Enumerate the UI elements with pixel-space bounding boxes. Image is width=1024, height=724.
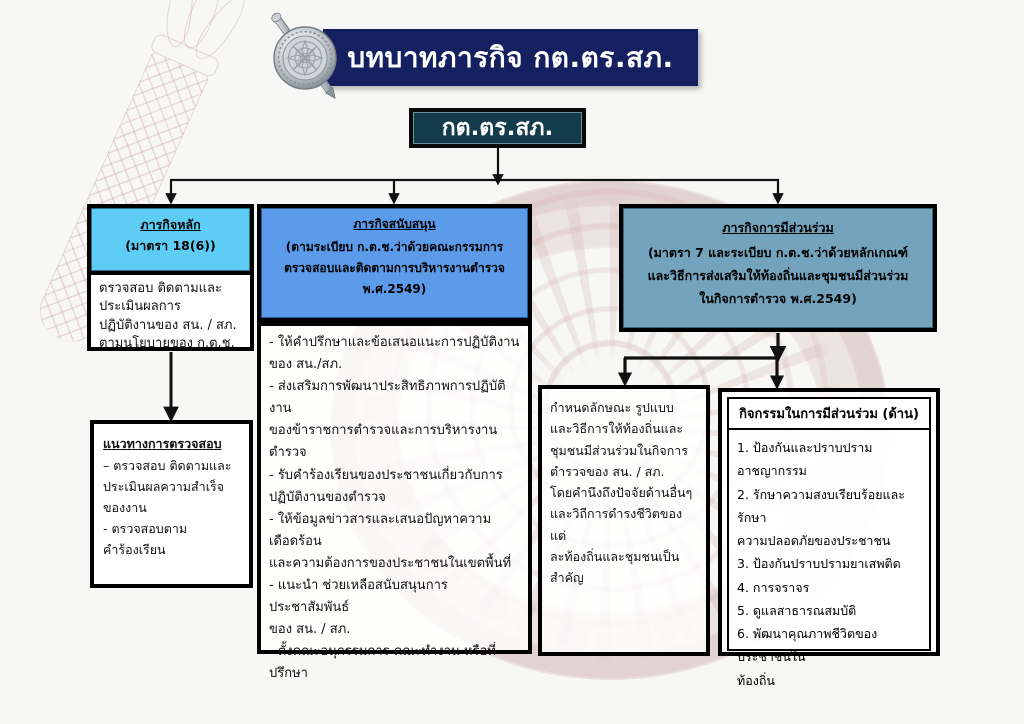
text-line: พ.ศ.2549) — [268, 279, 521, 300]
text-line: สำคัญ — [550, 567, 698, 588]
text-line: (มาตรา 7 และระเบียบ ก.ต.ช.ว่าด้วยหลักเกณ… — [630, 241, 926, 264]
root-node[interactable]: กต.ตร.สภ. — [409, 108, 586, 148]
text-line: ของงาน — [103, 497, 240, 518]
branch-support-header-text: ภารกิจสนับสนุน (ตามระเบียบ ก.ต.ช.ว่าด้วย… — [261, 208, 528, 306]
text-line: 4. การจราจร — [737, 576, 921, 599]
text-line: (ตามระเบียบ ก.ต.ช.ว่าด้วยคณะกรรมการ — [268, 237, 521, 258]
text-line: กำหนดลักษณะ รูปแบบ — [550, 397, 698, 418]
text-line: ปฏิบัติงานของ สน. / สภ. — [99, 317, 242, 335]
text-line: และวิธีการส่งเสริมให้ท้องถิ่นและชุมชนมีส… — [630, 264, 926, 287]
text-line: ของ สน. / สภ. — [269, 619, 520, 641]
text-line: ของข้าราชการตำรวจและการบริหารงานตำรวจ — [269, 420, 520, 464]
activity-list: 1. ป้องกันและปราบปรามอาชญากรรม2. รักษาคว… — [727, 430, 931, 651]
text-line: และวิถีการดำรงชีวิตของแต่ — [550, 503, 698, 546]
text-line: - ส่งเสริมการพัฒนาประสิทธิภาพการปฏิบัติง… — [269, 376, 520, 420]
text-line: 3. ป้องกันปราบปรามยาเสพติด — [737, 552, 921, 575]
text-line: ตรวจสอบ ติดตามและ — [99, 280, 242, 298]
page-title: บทบาทภารกิจ กต.ตร.สภ. — [347, 36, 673, 80]
text-line: 6. พัฒนาคุณภาพชีวิตของประชาชนใน — [737, 622, 921, 669]
text-line: – ตรวจสอบ ติดตามและ — [103, 455, 240, 476]
branch-participate-subtitle: (มาตรา 7 และระเบียบ ก.ต.ช.ว่าด้วยหลักเกณ… — [630, 241, 926, 310]
text-line: ในกิจการตำรวจ พ.ศ.2549) — [630, 287, 926, 310]
text-line: - ตั้งคณะอนุกรรมการ คณะทำงาน หรือที่ปรึก… — [269, 641, 520, 685]
text-line: ละท้องถิ่นและชุมชนเป็น — [550, 546, 698, 567]
guideline-lines: – ตรวจสอบ ติดตามและประเมินผลความสำเร็จขอ… — [103, 455, 240, 560]
text-line: ประเมินผลความสำเร็จ — [103, 476, 240, 497]
text-line: - ให้คำปรึกษาและข้อเสนอแนะการปฏิบัติงาน — [269, 332, 520, 354]
diagram-canvas: บทบาทภารกิจ กต.ตร.สภ. — [0, 0, 1024, 724]
branch-participate-header[interactable]: ภารกิจการมีส่วนร่วม (มาตรา 7 และระเบียบ … — [619, 204, 937, 332]
guideline-box: แนวทางการตรวจสอบ – ตรวจสอบ ติดตามและประเ… — [90, 420, 253, 588]
branch-main-subtitle: (มาตรา 18(6)) — [99, 236, 242, 255]
text-line: และความต้องการของประชาชนในเขตพื้นที่ — [269, 553, 520, 575]
text-line: - ให้ข้อมูลข่าวสารและเสนอปัญหาความเดือดร… — [269, 509, 520, 553]
branch-main-title: ภารกิจหลัก — [99, 215, 242, 234]
activity-box: กิจกรรมในการมีส่วนร่วม (ด้าน) 1. ป้องกัน… — [718, 388, 940, 656]
text-line: ชุมชนมีส่วนร่วมในกิจการ — [550, 440, 698, 461]
text-line: และวิธีการให้ท้องถิ่นและ — [550, 418, 698, 439]
text-line: ตามนโยบายของ ก.ต.ช. — [99, 335, 242, 353]
branch-main-body-text: ตรวจสอบ ติดตามและประเมินผลการปฏิบัติงานข… — [91, 275, 250, 359]
text-line: ปฏิบัติงานของตำรวจ — [269, 487, 520, 509]
branch-support-subtitle: (ตามระเบียบ ก.ต.ช.ว่าด้วยคณะกรรมการตรวจส… — [268, 237, 521, 300]
charform-box: กำหนดลักษณะ รูปแบบและวิธีการให้ท้องถิ่นแ… — [538, 385, 710, 656]
text-line: 1. ป้องกันและปราบปรามอาชญากรรม — [737, 436, 921, 483]
text-line: ของ สน./สภ. — [269, 354, 520, 376]
text-line: - รับคำร้องเรียนของประชาชนเกี่ยวกับการ — [269, 465, 520, 487]
text-line: - ตรวจสอบตาม — [103, 518, 240, 539]
text-line: ตำรวจของ สน. / สภ. — [550, 461, 698, 482]
text-line: 2. รักษาความสงบเรียบร้อยและรักษา — [737, 483, 921, 530]
text-line: 5. ดูแลสาธารณสมบัติ — [737, 599, 921, 622]
branch-main-body: ตรวจสอบ ติดตามและประเมินผลการปฏิบัติงานข… — [87, 275, 254, 351]
text-line: ตรวจสอบและติดตามการบริหารงานตำรวจ — [268, 258, 521, 279]
branch-participate-header-text: ภารกิจการมีส่วนร่วม (มาตรา 7 และระเบียบ … — [623, 208, 933, 319]
charform-text: กำหนดลักษณะ รูปแบบและวิธีการให้ท้องถิ่นแ… — [542, 389, 706, 596]
branch-participate-title: ภารกิจการมีส่วนร่วม — [630, 216, 926, 239]
branch-support-header[interactable]: ภารกิจสนับสนุน (ตามระเบียบ ก.ต.ช.ว่าด้วย… — [257, 204, 532, 322]
page-title-banner: บทบาทภารกิจ กต.ตร.สภ. — [323, 29, 698, 86]
activity-header: กิจกรรมในการมีส่วนร่วม (ด้าน) — [727, 397, 931, 430]
text-line: คำร้องเรียน — [103, 539, 240, 560]
branch-main-header[interactable]: ภารกิจหลัก (มาตรา 18(6)) — [87, 204, 254, 275]
text-line: ท้องถิ่น — [737, 669, 921, 692]
text-line: ประเมินผลการ — [99, 298, 242, 316]
root-node-label: กต.ตร.สภ. — [442, 110, 554, 146]
text-line: ความปลอดภัยของประชาชน — [737, 529, 921, 552]
branch-main-header-text: ภารกิจหลัก (มาตรา 18(6)) — [91, 208, 250, 263]
branch-support-body: - ให้คำปรึกษาและข้อเสนอแนะการปฏิบัติงานข… — [257, 322, 532, 654]
thai-police-emblem-icon — [251, 2, 359, 110]
text-line: - แนะนำ ช่วยเหลือสนับสนุนการประชาสัมพันธ… — [269, 575, 520, 619]
guideline-title: แนวทางการตรวจสอบ — [103, 433, 240, 454]
branch-support-title: ภารกิจสนับสนุน — [268, 214, 521, 235]
text-line: โดยคำนึงถึงปัจจัยด้านอื่นๆ — [550, 482, 698, 503]
branch-support-body-text: - ให้คำปรึกษาและข้อเสนอแนะการปฏิบัติงานข… — [261, 326, 528, 692]
